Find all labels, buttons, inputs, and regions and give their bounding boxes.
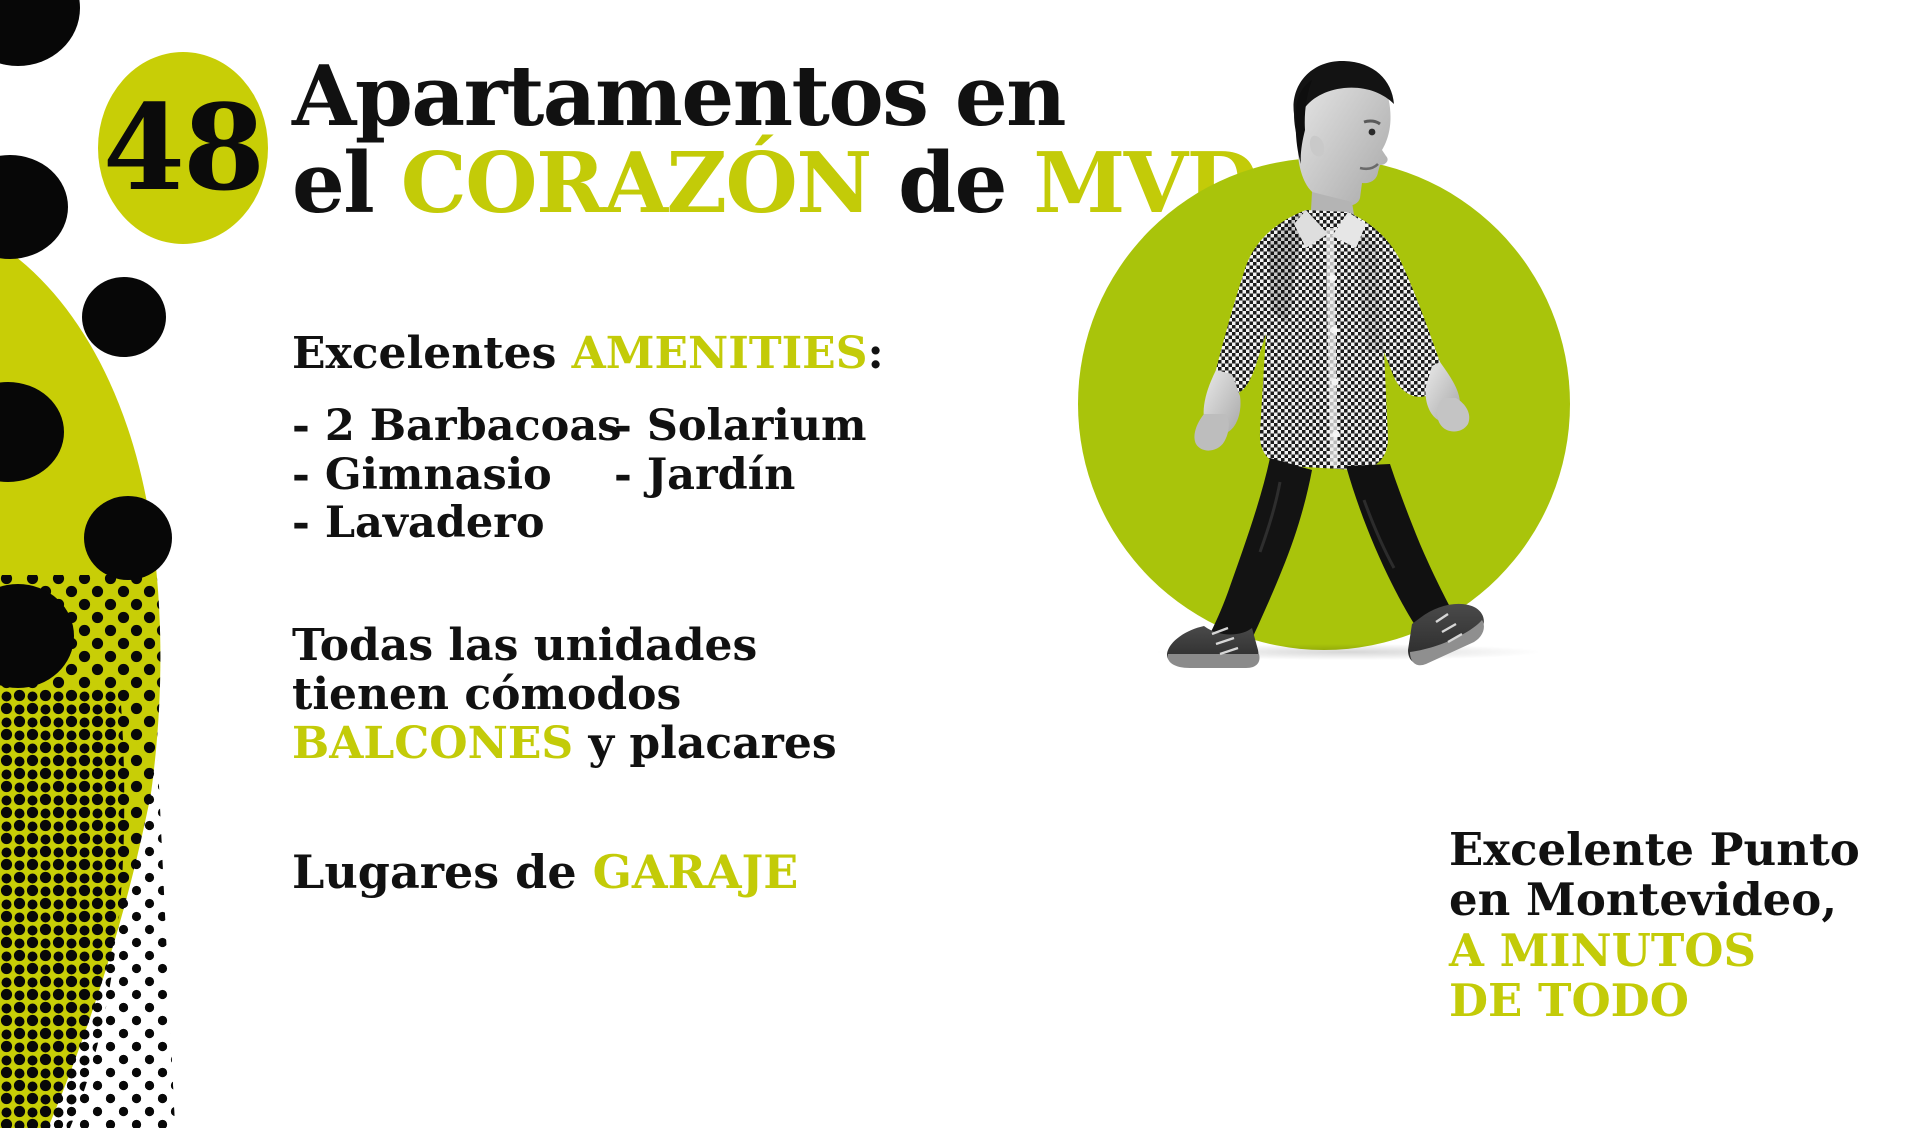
caption-line-4: DE TODO bbox=[1449, 976, 1889, 1026]
headline-line2-prefix: el bbox=[292, 134, 401, 232]
apartment-count-number: 48 bbox=[103, 89, 263, 207]
amenity-item: - Lavadero bbox=[292, 499, 584, 547]
amenity-item: - Jardín bbox=[614, 451, 914, 499]
caption-line-3: A MINUTOS bbox=[1449, 926, 1889, 976]
amenity-item: - Gimnasio bbox=[292, 451, 584, 499]
headline-line2-middle: de bbox=[871, 134, 1034, 232]
shoes bbox=[1167, 604, 1484, 668]
head bbox=[1294, 61, 1394, 228]
amenities-title-prefix: Excelentes bbox=[292, 328, 572, 379]
amenities-column-left: - 2 Barbacoas - Gimnasio - Lavadero bbox=[292, 402, 584, 546]
apartment-count-badge: 48 bbox=[98, 52, 268, 244]
walking-man-photo bbox=[1120, 52, 1540, 672]
balconies-line3-suffix: y placares bbox=[573, 718, 836, 769]
balconies-paragraph: Todas las unidades tienen cómodos BALCON… bbox=[292, 621, 912, 769]
promo-slide: 48 Apartamentos en el CORAZÓN de MVD Exc… bbox=[0, 0, 1920, 1128]
caption-line-1: Excelente Punto bbox=[1449, 825, 1889, 875]
headline-line-1: Apartamentos en bbox=[292, 56, 1122, 137]
body-copy: Excelentes AMENITIES: - 2 Barbacoas - Gi… bbox=[292, 330, 1082, 897]
checkered-shirt bbox=[1215, 210, 1442, 470]
headline-line-2: el CORAZÓN de MVD bbox=[292, 143, 1122, 224]
garage-line: Lugares de GARAJE bbox=[292, 847, 1082, 898]
garage-prefix: Lugares de bbox=[292, 845, 593, 899]
garage-highlight: GARAJE bbox=[593, 845, 799, 899]
amenities-list: - 2 Barbacoas - Gimnasio - Lavadero - So… bbox=[292, 402, 1082, 546]
amenity-item: - 2 Barbacoas bbox=[292, 402, 584, 450]
balconies-line-2: tienen cómodos bbox=[292, 670, 912, 719]
halftone-dots-extension bbox=[0, 690, 160, 1128]
balconies-line-1: Todas las unidades bbox=[292, 621, 912, 670]
caption-line-2: en Montevideo, bbox=[1449, 875, 1889, 925]
headline: Apartamentos en el CORAZÓN de MVD bbox=[292, 56, 1122, 223]
headline-highlight-corazon: CORAZÓN bbox=[401, 134, 871, 232]
amenity-item: - Solarium bbox=[614, 402, 914, 450]
amenities-title: Excelentes AMENITIES: bbox=[292, 330, 1082, 378]
location-caption: Excelente Punto en Montevideo, A MINUTOS… bbox=[1449, 825, 1889, 1027]
amenities-title-suffix: : bbox=[868, 328, 884, 379]
amenities-column-right: - Solarium - Jardín bbox=[614, 402, 914, 546]
balconies-line-3: BALCONES y placares bbox=[292, 719, 912, 768]
amenities-title-highlight: AMENITIES bbox=[572, 328, 868, 379]
balconies-highlight: BALCONES bbox=[292, 718, 573, 769]
